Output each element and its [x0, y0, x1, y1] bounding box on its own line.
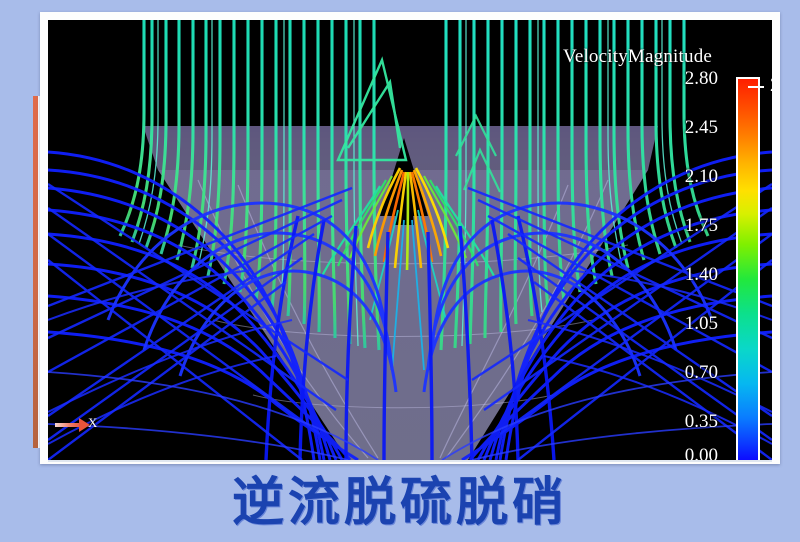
axis-orientation-widget[interactable]: X: [55, 415, 101, 437]
colorbar-max-marker: [748, 86, 764, 88]
colorbar-range-max: 2.74: [770, 75, 772, 97]
x-axis-arrow-icon: [55, 423, 81, 427]
colorbar-tick-6: 0.70: [634, 362, 718, 384]
colorbar-tick-4: 1.40: [634, 264, 718, 286]
colorbar-tick-7: 0.35: [634, 411, 718, 433]
colorbar-tick-3: 1.75: [634, 215, 718, 237]
colorbar-gradient[interactable]: [736, 77, 760, 460]
colorbar-tick-1: 2.45: [634, 117, 718, 139]
figure-caption: 逆流脱硫脱硝: [0, 470, 800, 536]
colorbar-tick-8: 0.00: [634, 445, 718, 460]
colorbar-tick-0: 2.80: [634, 68, 718, 90]
x-axis-label: X: [88, 415, 97, 431]
render-viewport[interactable]: VelocityMagnitude 2.74 0.00 2.80 2.45 2.…: [48, 20, 772, 460]
colorbar-tick-5: 1.05: [634, 313, 718, 335]
colorbar-title: VelocityMagnitude: [563, 46, 712, 68]
screenshot-root: VelocityMagnitude 2.74 0.00 2.80 2.45 2.…: [0, 0, 800, 542]
colorbar-tick-2: 2.10: [634, 166, 718, 188]
